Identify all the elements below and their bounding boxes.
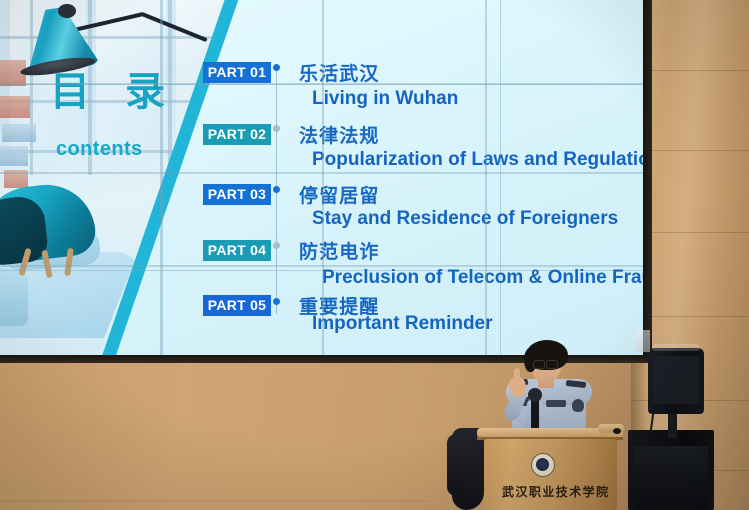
led-panel-seam: [0, 83, 645, 85]
lectern-podium: 武汉职业技术学院: [484, 439, 617, 510]
timeline-dot: [273, 298, 280, 305]
uniform-chest-badge: [546, 400, 566, 407]
screen-bezel-right: [643, 0, 652, 360]
agenda-badge[interactable]: PART 01: [203, 62, 271, 83]
eyeglasses: [533, 360, 545, 369]
timeline-dot: [273, 242, 280, 249]
agenda-badge[interactable]: PART 03: [203, 184, 271, 205]
timeline-dot: [273, 64, 280, 71]
led-panel-seam: [322, 0, 324, 358]
presentation-room-photo: 目 录 contents PART 01 乐活武汉 Living in Wuha…: [0, 0, 749, 510]
led-panel-seam: [0, 265, 645, 267]
pa-loudspeaker: [648, 348, 704, 414]
powerpoint-slide: 目 录 contents PART 01 乐活武汉 Living in Wuha…: [0, 0, 645, 358]
agenda-badge[interactable]: PART 05: [203, 295, 271, 316]
led-panel-seam: [485, 0, 487, 358]
eyeglasses: [546, 360, 558, 369]
speaker-top-bevel: [652, 344, 700, 351]
university-emblem: [531, 453, 555, 477]
hanging-dark-coat: [447, 434, 465, 496]
slide-title-cn: 目 录: [50, 72, 177, 112]
led-panel-seam: [160, 0, 162, 358]
agenda-heading-en: Living in Wuhan: [312, 88, 458, 110]
agenda-heading-cn: 法律法规: [299, 121, 380, 148]
agenda-badge[interactable]: PART 02: [203, 124, 271, 145]
agenda-heading-cn: 停留居留: [299, 181, 380, 208]
uniform-shoulder-patch: [572, 399, 584, 412]
agenda-heading-en: Popularization of Laws and Regulations: [312, 149, 645, 171]
led-panel-seam: [0, 172, 645, 174]
presenter-finger: [514, 368, 520, 382]
podium-control-knob: [613, 428, 621, 434]
timeline-dot: [273, 125, 280, 132]
agenda-heading-en: Stay and Residence of Foreigners: [312, 208, 618, 230]
agenda-heading-cn: 乐活武汉: [299, 59, 380, 86]
wall-light-reflection: [636, 330, 650, 352]
led-video-wall: 目 录 contents PART 01 乐活武汉 Living in Wuha…: [0, 0, 645, 358]
agenda-heading-cn: 防范电诈: [299, 237, 380, 264]
slide-title-en: contents: [56, 138, 143, 161]
timeline-dot: [273, 186, 280, 193]
agenda-heading-en: Important Reminder: [312, 313, 493, 335]
agenda-heading-en: Preclusion of Telecom & Online Fraud: [322, 267, 645, 289]
agenda-badge[interactable]: PART 04: [203, 240, 271, 261]
podium-inscription: 武汉职业技术学院: [502, 483, 610, 500]
wall-baseboard-seam: [0, 500, 430, 502]
subwoofer-front-face: [634, 446, 708, 510]
microphone-head: [528, 388, 542, 402]
